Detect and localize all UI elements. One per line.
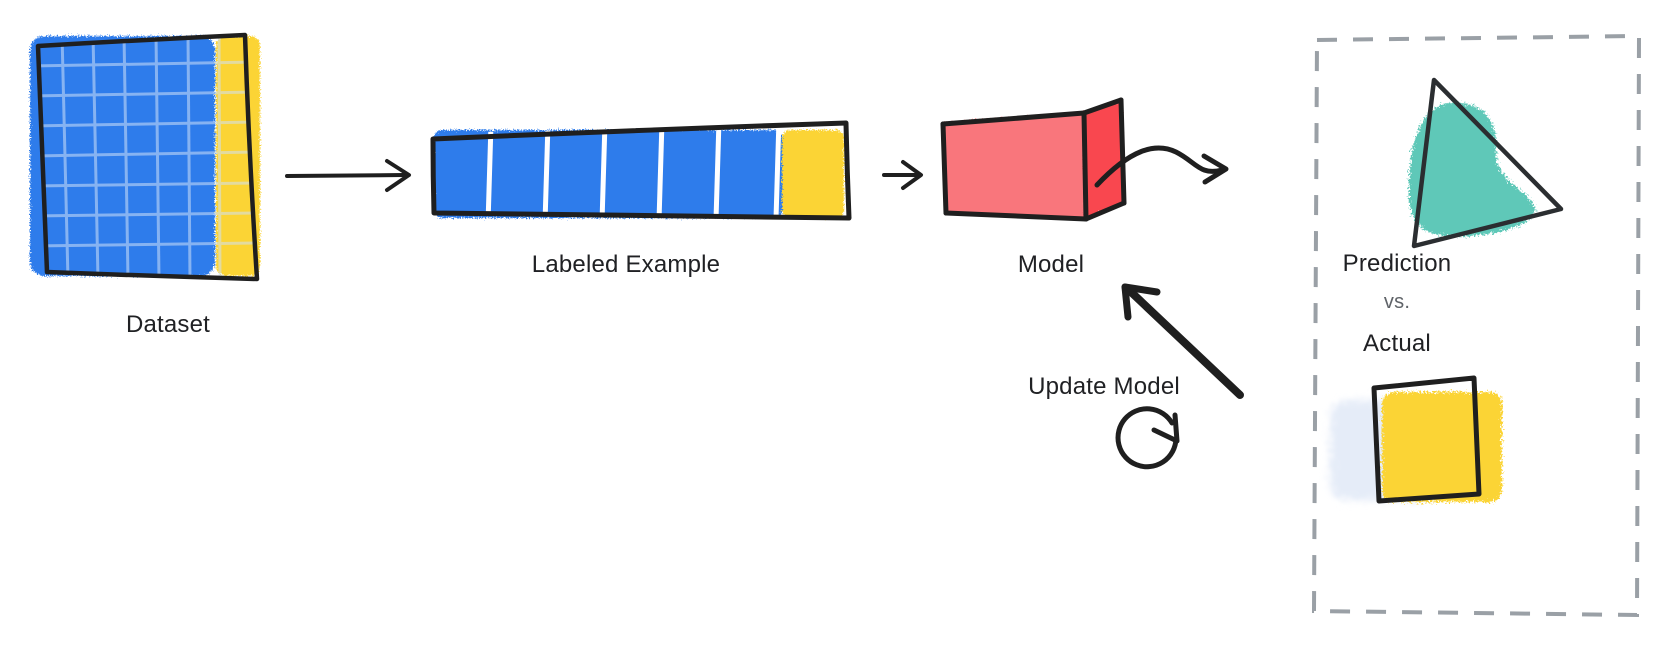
model-node[interactable] — [943, 100, 1124, 219]
arrow-dataset-to-example — [287, 161, 409, 190]
actual-shape[interactable] — [1330, 378, 1502, 502]
update-model-label: Update Model — [1028, 373, 1180, 401]
labeled-example-label-fill — [782, 130, 844, 218]
dataset-label: Dataset — [126, 311, 210, 339]
actual-label: Actual — [1363, 330, 1431, 358]
model-label: Model — [1018, 251, 1084, 279]
prediction-label: Prediction — [1343, 250, 1452, 278]
dataset-node[interactable] — [30, 34, 260, 280]
model-front-fill — [944, 112, 1084, 218]
labeled-example-label: Labeled Example — [532, 251, 720, 279]
model-side-fill — [1083, 102, 1123, 218]
refresh-circle-arrow-icon — [1118, 409, 1177, 467]
labeled-example-node[interactable] — [433, 119, 849, 224]
vs-separator-label: vs. — [1384, 291, 1410, 314]
prediction-shape[interactable] — [1409, 80, 1561, 246]
actual-fill — [1382, 392, 1502, 502]
arrow-example-to-model — [884, 162, 921, 188]
